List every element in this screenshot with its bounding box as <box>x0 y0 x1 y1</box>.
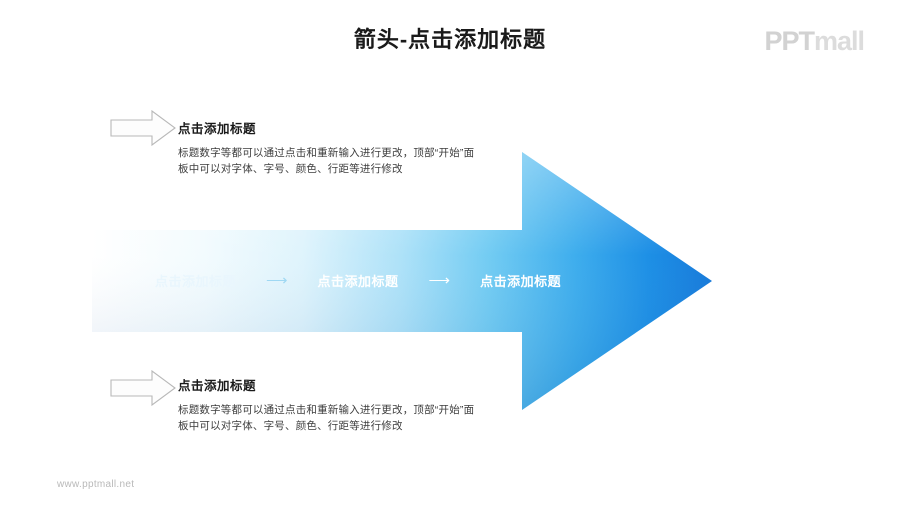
arrow-separator-2: ⟶ <box>429 273 451 288</box>
pptmall-logo: PPTmall <box>764 26 864 57</box>
callout-bottom-line1: 标题数字等都可以通过点击和重新输入进行更改，顶部“开始”面 <box>178 402 598 418</box>
arrow-label-3: 点击添加标题 <box>480 271 561 290</box>
arrow-right-outline-icon <box>110 370 176 406</box>
callout-top-line2: 板中可以对字体、字号、颜色、行距等进行修改 <box>178 161 598 177</box>
logo-text-mall: mall <box>814 26 864 56</box>
callout-top: 点击添加标题 标题数字等都可以通过点击和重新输入进行更改，顶部“开始”面 板中可… <box>178 118 598 177</box>
callout-top-title: 点击添加标题 <box>178 118 598 137</box>
arrow-label-1: 点击添加标题 <box>155 271 236 290</box>
footer-url: www.pptmall.net <box>57 479 134 490</box>
callout-bottom: 点击添加标题 标题数字等都可以通过点击和重新输入进行更改，顶部“开始”面 板中可… <box>178 375 598 434</box>
callout-top-line1: 标题数字等都可以通过点击和重新输入进行更改，顶部“开始”面 <box>178 145 598 161</box>
callout-bottom-title: 点击添加标题 <box>178 375 598 394</box>
arrow-right-outline-icon <box>110 110 176 146</box>
logo-text-ppt: PPT <box>764 26 814 56</box>
callout-bottom-line2: 板中可以对字体、字号、颜色、行距等进行修改 <box>178 418 598 434</box>
arrow-label-2: 点击添加标题 <box>318 271 399 290</box>
arrow-separator-1: ⟶ <box>266 273 288 288</box>
arrow-inner-labels: 点击添加标题 ⟶ 点击添加标题 ⟶ 点击添加标题 <box>155 268 675 292</box>
